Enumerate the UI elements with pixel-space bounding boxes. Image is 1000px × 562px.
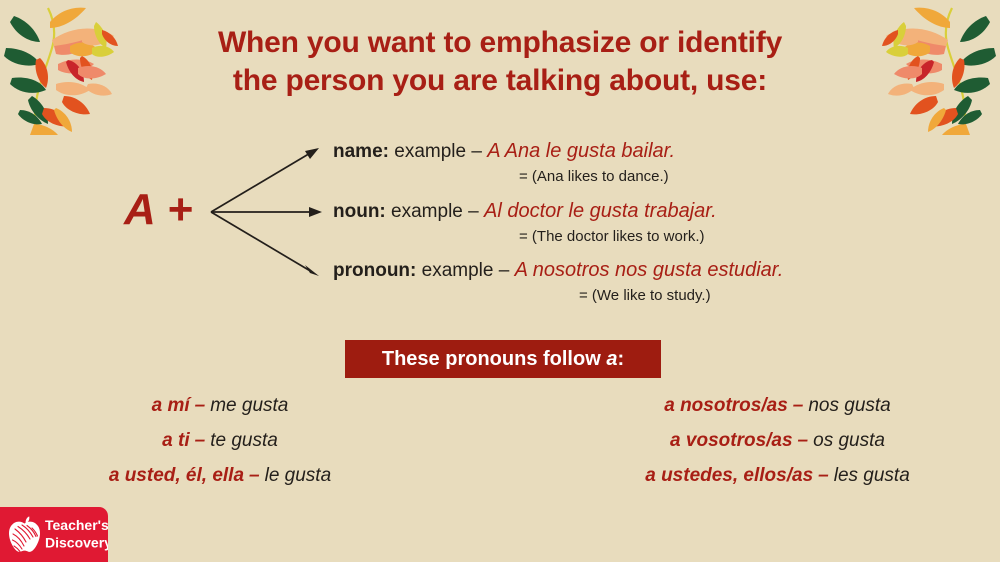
pronoun-dash: –	[249, 465, 260, 487]
pronoun-verb: les gusta	[834, 465, 910, 487]
example-word-pronoun: example	[422, 260, 494, 281]
pronoun-verb: os gusta	[813, 430, 885, 452]
example-dash-noun: –	[468, 201, 479, 222]
pronoun-row: a usted, él, ella – le gusta	[109, 458, 331, 493]
pronoun-row: a ustedes, ellos/as – les gusta	[645, 458, 910, 493]
page-title: When you want to emphasize or identify t…	[0, 24, 1000, 100]
arrow-head-to-noun	[309, 207, 322, 217]
pronoun-dash: –	[195, 395, 206, 417]
example-dash-pronoun: –	[499, 260, 510, 281]
example-spanish-name: A Ana le gusta bailar.	[487, 140, 675, 162]
pronoun-row: a nosotros/as – nos gusta	[664, 388, 891, 423]
example-dash-name: –	[471, 141, 482, 162]
example-spanish-pronoun: A nosotros nos gusta estudiar.	[515, 259, 784, 281]
example-row-pronoun: pronoun: example – A nosotros nos gusta …	[333, 258, 783, 306]
pronoun-column-plural: a nosotros/as – nos gusta a vosotros/as …	[500, 388, 1000, 493]
logo-line-1: Teacher's	[45, 518, 108, 533]
example-translation-pronoun: = (We like to study.)	[333, 286, 783, 306]
arrow-line-to-pronoun	[211, 212, 312, 272]
pronoun-dash: –	[818, 465, 829, 487]
pronouns-banner-text: These pronouns follow a:	[382, 348, 624, 371]
example-label-pronoun: pronoun:	[333, 260, 416, 281]
pronoun-row: a mí – me gusta	[152, 388, 289, 423]
pronoun-row: a vosotros/as – os gusta	[670, 423, 885, 458]
pronoun-table: a mí – me gusta a ti – te gusta a usted,…	[0, 388, 1000, 493]
pronoun-term: a ustedes, ellos/as	[645, 465, 813, 487]
pronoun-row: a ti – te gusta	[162, 423, 278, 458]
banner-prefix: These pronouns follow	[382, 348, 606, 370]
pronoun-dash: –	[195, 430, 206, 452]
pronoun-term: a nosotros/as	[664, 395, 788, 417]
banner-italic-word: a	[606, 348, 617, 370]
formula-a-plus: A+	[124, 186, 193, 234]
formula-letter-a: A	[124, 185, 156, 234]
example-translation-noun: = (The doctor likes to work.)	[333, 227, 717, 247]
formula-plus-sign: +	[168, 185, 194, 234]
pronoun-column-singular: a mí – me gusta a ti – te gusta a usted,…	[0, 388, 500, 493]
pronoun-term: a ti	[162, 430, 189, 452]
example-spanish-noun: Al doctor le gusta trabajar.	[484, 200, 717, 222]
pronoun-dash: –	[798, 430, 809, 452]
banner-suffix: :	[617, 348, 624, 370]
logo-wordmark: Teacher's Discovery®	[45, 518, 108, 551]
pronoun-term: a usted, él, ella	[109, 465, 244, 487]
pronoun-verb: le gusta	[265, 465, 332, 487]
arrow-head-to-name	[305, 148, 319, 159]
example-row-noun: noun: example – Al doctor le gusta traba…	[333, 199, 717, 247]
pronoun-verb: me gusta	[210, 395, 288, 417]
pronouns-banner: These pronouns follow a:	[345, 340, 661, 378]
logo-line-2-text: Discovery	[45, 535, 108, 551]
pronoun-verb: te gusta	[210, 430, 278, 452]
arrow-head-to-pronoun	[305, 265, 319, 276]
example-word-name: example	[394, 141, 466, 162]
slide-canvas: When you want to emphasize or identify t…	[0, 0, 1000, 562]
teachers-discovery-logo: Teacher's Discovery®	[0, 507, 108, 562]
page-title-line-2: the person you are talking about, use:	[0, 62, 1000, 100]
example-main-line-pronoun: pronoun: example – A nosotros nos gusta …	[333, 258, 783, 283]
example-label-noun: noun:	[333, 201, 386, 222]
example-translation-name: = (Ana likes to dance.)	[333, 167, 675, 187]
example-main-line-name: name: example – A Ana le gusta bailar.	[333, 139, 675, 164]
apple-icon	[7, 516, 41, 554]
pronoun-term: a vosotros/as	[670, 430, 793, 452]
example-label-name: name:	[333, 141, 389, 162]
logo-line-2: Discovery®	[45, 533, 108, 551]
pronoun-term: a mí	[152, 395, 190, 417]
example-main-line-noun: noun: example – Al doctor le gusta traba…	[333, 199, 717, 224]
page-title-line-1: When you want to emphasize or identify	[0, 24, 1000, 62]
arrow-line-to-name	[211, 152, 312, 212]
example-word-noun: example	[391, 201, 463, 222]
pronoun-verb: nos gusta	[808, 395, 890, 417]
pronoun-dash: –	[793, 395, 804, 417]
example-row-name: name: example – A Ana le gusta bailar. =…	[333, 139, 675, 187]
